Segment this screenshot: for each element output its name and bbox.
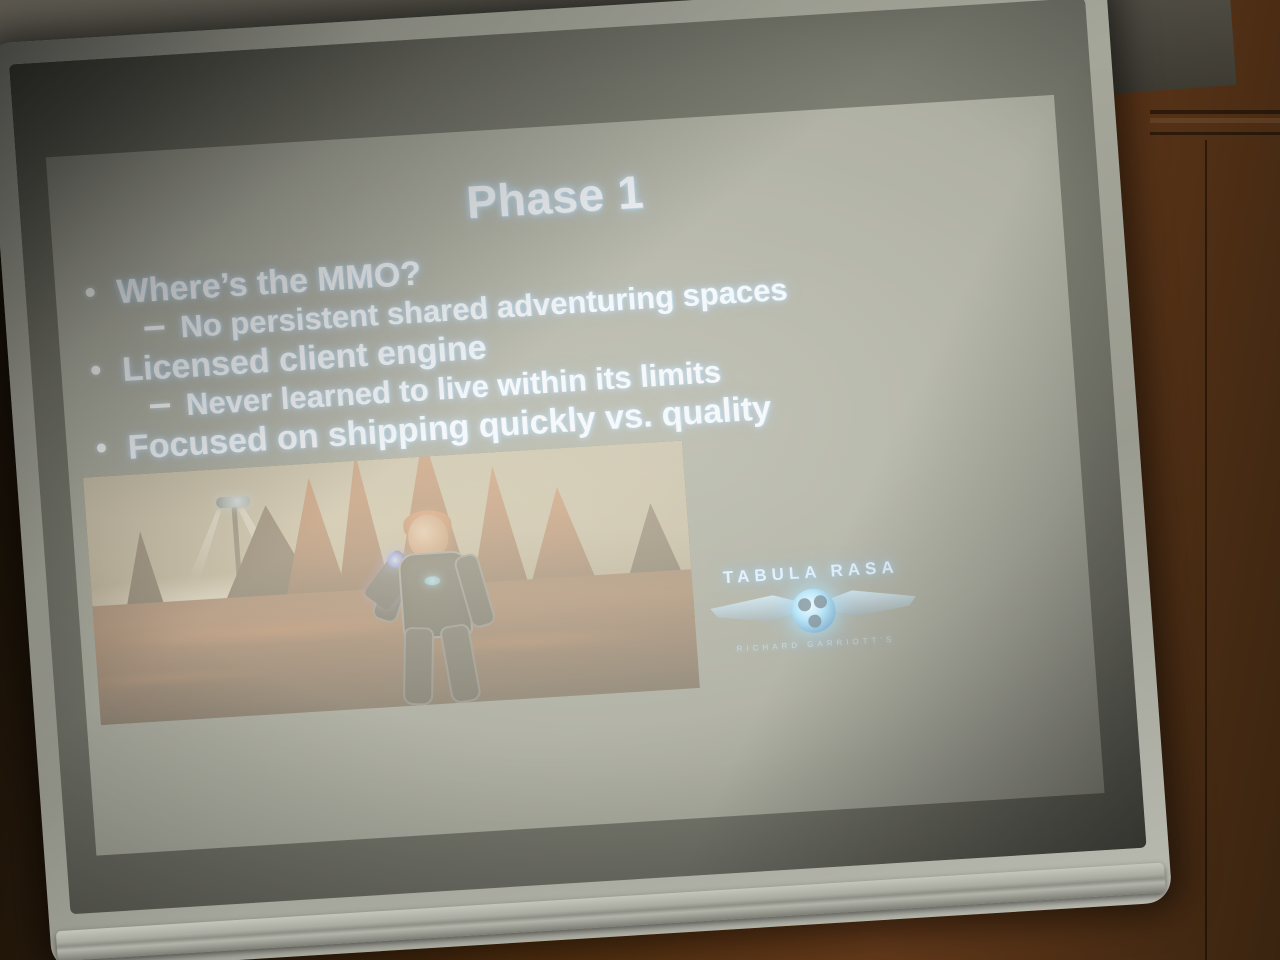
projected-slide: Phase 1 Where’s the MMO? No persistent s…: [46, 95, 1105, 856]
logo-wing-left-icon: [709, 594, 799, 625]
bullet-dash-icon: [150, 403, 170, 408]
game-screenshot-image: [83, 441, 700, 726]
whiteboard: Phase 1 Where’s the MMO? No persistent s…: [0, 0, 1173, 960]
screenshot-character: [369, 511, 502, 703]
whiteboard-surface: Phase 1 Where’s the MMO? No persistent s…: [9, 0, 1147, 914]
room-scene: Phase 1 Where’s the MMO? No persistent s…: [0, 0, 1280, 960]
wall-seam-highlight: [1150, 118, 1280, 123]
logo-wing-right-icon: [827, 586, 917, 617]
logo-wordmark: TABULA RASA: [705, 556, 916, 589]
character-right-leg: [439, 623, 482, 705]
logo-subtext: RICHARD GARRIOTT'S: [711, 633, 921, 655]
tabula-rasa-logo: TABULA RASA RICHARD GARRIOTT'S: [705, 556, 921, 655]
character-left-leg: [403, 627, 434, 706]
bullet-dot-icon: [91, 365, 101, 375]
wall-seam-vertical: [1205, 140, 1207, 960]
screenshot-tower-lamp: [216, 495, 251, 508]
slide-bullet-list: Where’s the MMO? No persistent shared ad…: [84, 213, 1066, 470]
wall-seam: [1150, 110, 1280, 114]
bullet-dash-icon: [144, 325, 164, 330]
wall-seam: [1150, 132, 1280, 135]
bullet-dot-icon: [97, 443, 107, 453]
logo-orb-icon: [790, 587, 837, 634]
bullet-dot-icon: [85, 288, 95, 298]
